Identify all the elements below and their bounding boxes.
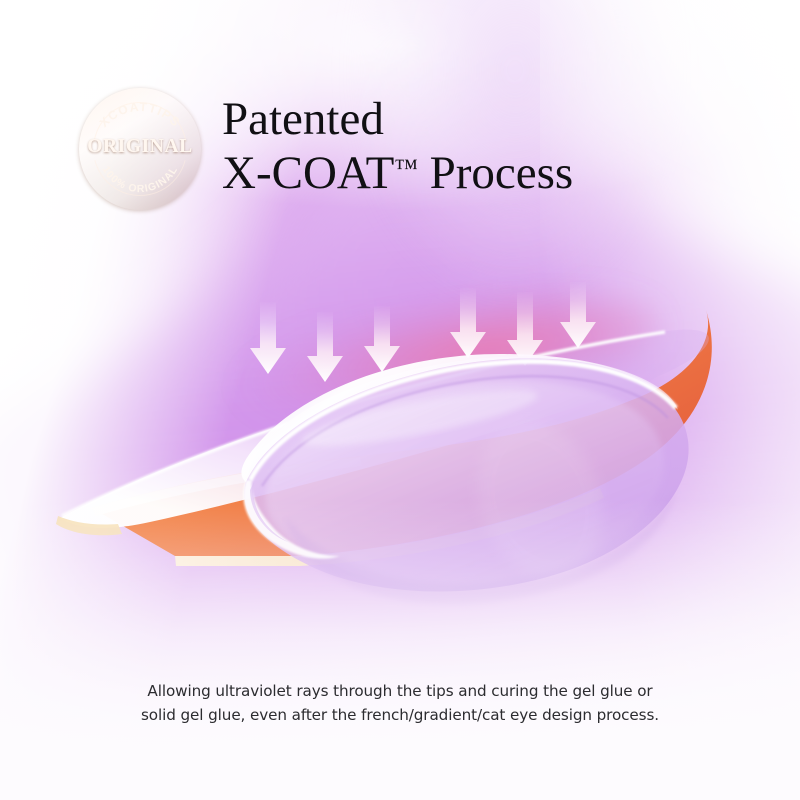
- page-title: Patented X-COAT™ Process: [222, 96, 742, 198]
- title-brand: X-COAT: [222, 147, 394, 199]
- caption-line-2: solid gel glue, even after the french/gr…: [0, 704, 800, 728]
- caption-text: Allowing ultraviolet rays through the ti…: [0, 680, 800, 727]
- title-suffix: Process: [418, 147, 573, 199]
- original-badge: XCOATTIPS 100% ORIGINAL ORIGINAL: [79, 88, 201, 210]
- badge-center-label: ORIGINAL: [79, 137, 201, 157]
- title-line-2: X-COAT™ Process: [222, 150, 742, 198]
- background-bottom-fade: [0, 500, 800, 800]
- title-line-1: Patented: [222, 96, 742, 144]
- trademark-symbol: ™: [394, 155, 418, 181]
- caption-line-1: Allowing ultraviolet rays through the ti…: [0, 680, 800, 704]
- product-infographic: XCOATTIPS 100% ORIGINAL ORIGINAL Patente…: [0, 0, 800, 800]
- badge-bottom-arc-label: 100% ORIGINAL: [100, 164, 181, 195]
- badge-top-arc-label: XCOATTIPS: [97, 100, 183, 130]
